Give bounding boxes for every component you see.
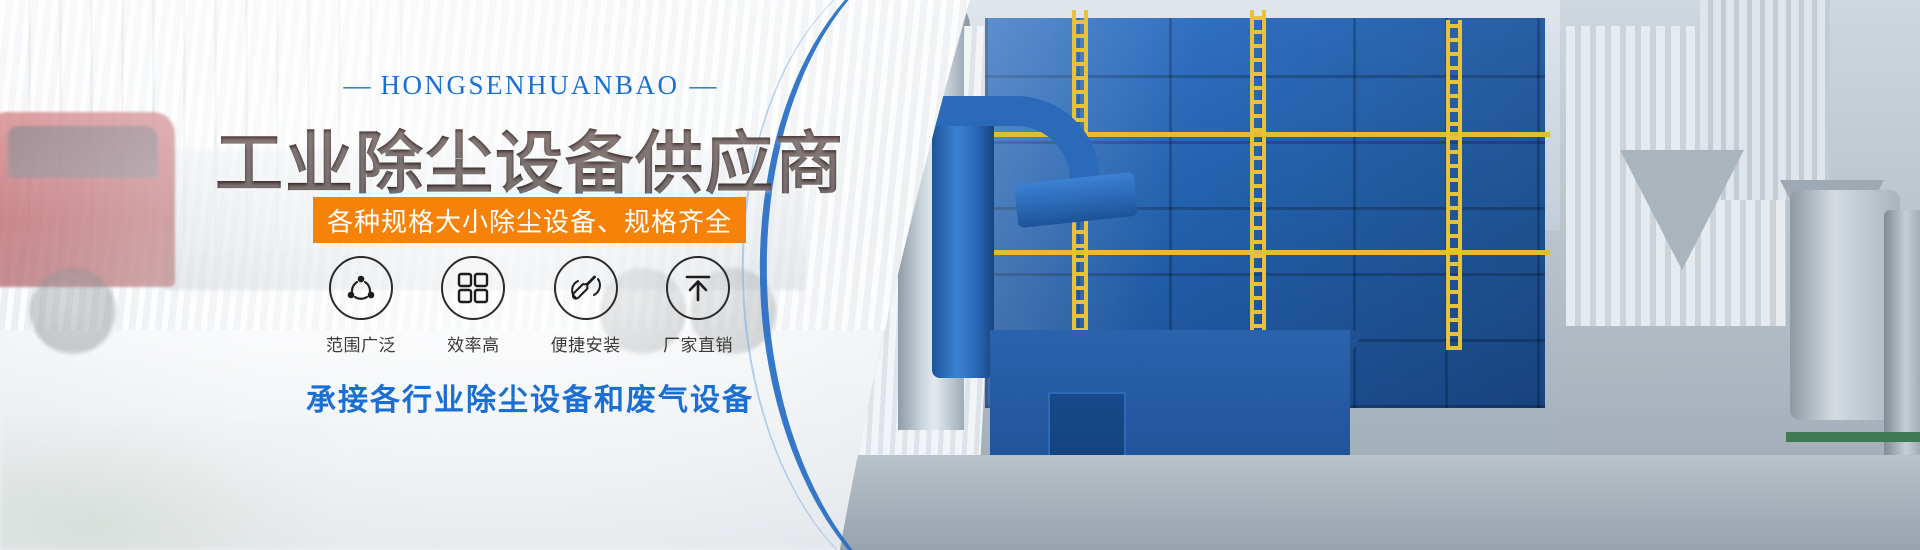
network-share-icon [329,256,393,320]
promo-banner: —HONGSENHUANBAO— 工业除尘设备供应商 各种规格大小除尘设备、规格… [0,0,1920,550]
tagline-text: 承接各行业除尘设备和废气设备 [0,375,1060,419]
feature-item-coverage: 范围广泛 [313,256,409,356]
wrench-tool-icon [554,256,618,320]
feature-list: 范围广泛 效率高 [313,256,746,356]
feature-label: 厂家直销 [650,331,746,356]
feature-label: 便捷安装 [538,331,634,356]
eyebrow-text: —HONGSENHUANBAO— [0,70,1060,101]
subtitle-text: 各种规格大小除尘设备、规格齐全 [327,202,732,239]
feature-label: 效率高 [425,331,521,356]
dash-right: — [680,70,727,100]
feature-item-installation: 便捷安装 [538,256,634,356]
yellow-ladder [1446,20,1462,350]
page-title: 工业除尘设备供应商 [0,108,1060,207]
feature-item-efficiency: 效率高 [425,256,521,356]
yellow-ladder [1250,10,1266,370]
green-railing [1786,432,1920,442]
eyebrow-label: HONGSENHUANBAO [380,70,679,100]
subtitle-highlight-bar: 各种规格大小除尘设备、规格齐全 [313,197,746,243]
feature-item-direct-sales: 厂家直销 [650,256,746,356]
banner-content: —HONGSENHUANBAO— 工业除尘设备供应商 各种规格大小除尘设备、规格… [0,0,1060,550]
feature-label: 范围广泛 [313,331,409,356]
grid-four-squares-icon [441,256,505,320]
arrow-up-bar-icon [666,256,730,320]
dash-left: — [333,70,380,100]
hopper-cone [1620,150,1744,270]
